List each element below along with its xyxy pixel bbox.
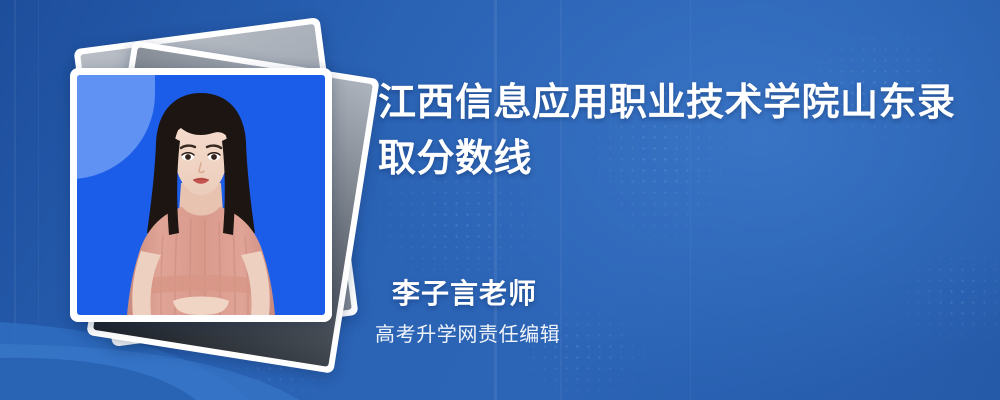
author-role: 高考升学网责任编辑 xyxy=(375,318,560,347)
promo-banner: 江西信息应用职业技术学院山东录取分数线 李子言老师 高考升学网责任编辑 xyxy=(0,0,1000,400)
portrait-photo xyxy=(77,75,325,315)
banner-headline: 江西信息应用职业技术学院山东录取分数线 xyxy=(378,74,958,186)
author-name: 李子言老师 xyxy=(392,272,537,312)
portrait-illustration xyxy=(77,75,325,315)
banner-text-column: 江西信息应用职业技术学院山东录取分数线 李子言老师 高考升学网责任编辑 xyxy=(375,0,975,400)
portrait-card-front xyxy=(70,68,332,322)
portrait-card-stack xyxy=(50,34,350,354)
